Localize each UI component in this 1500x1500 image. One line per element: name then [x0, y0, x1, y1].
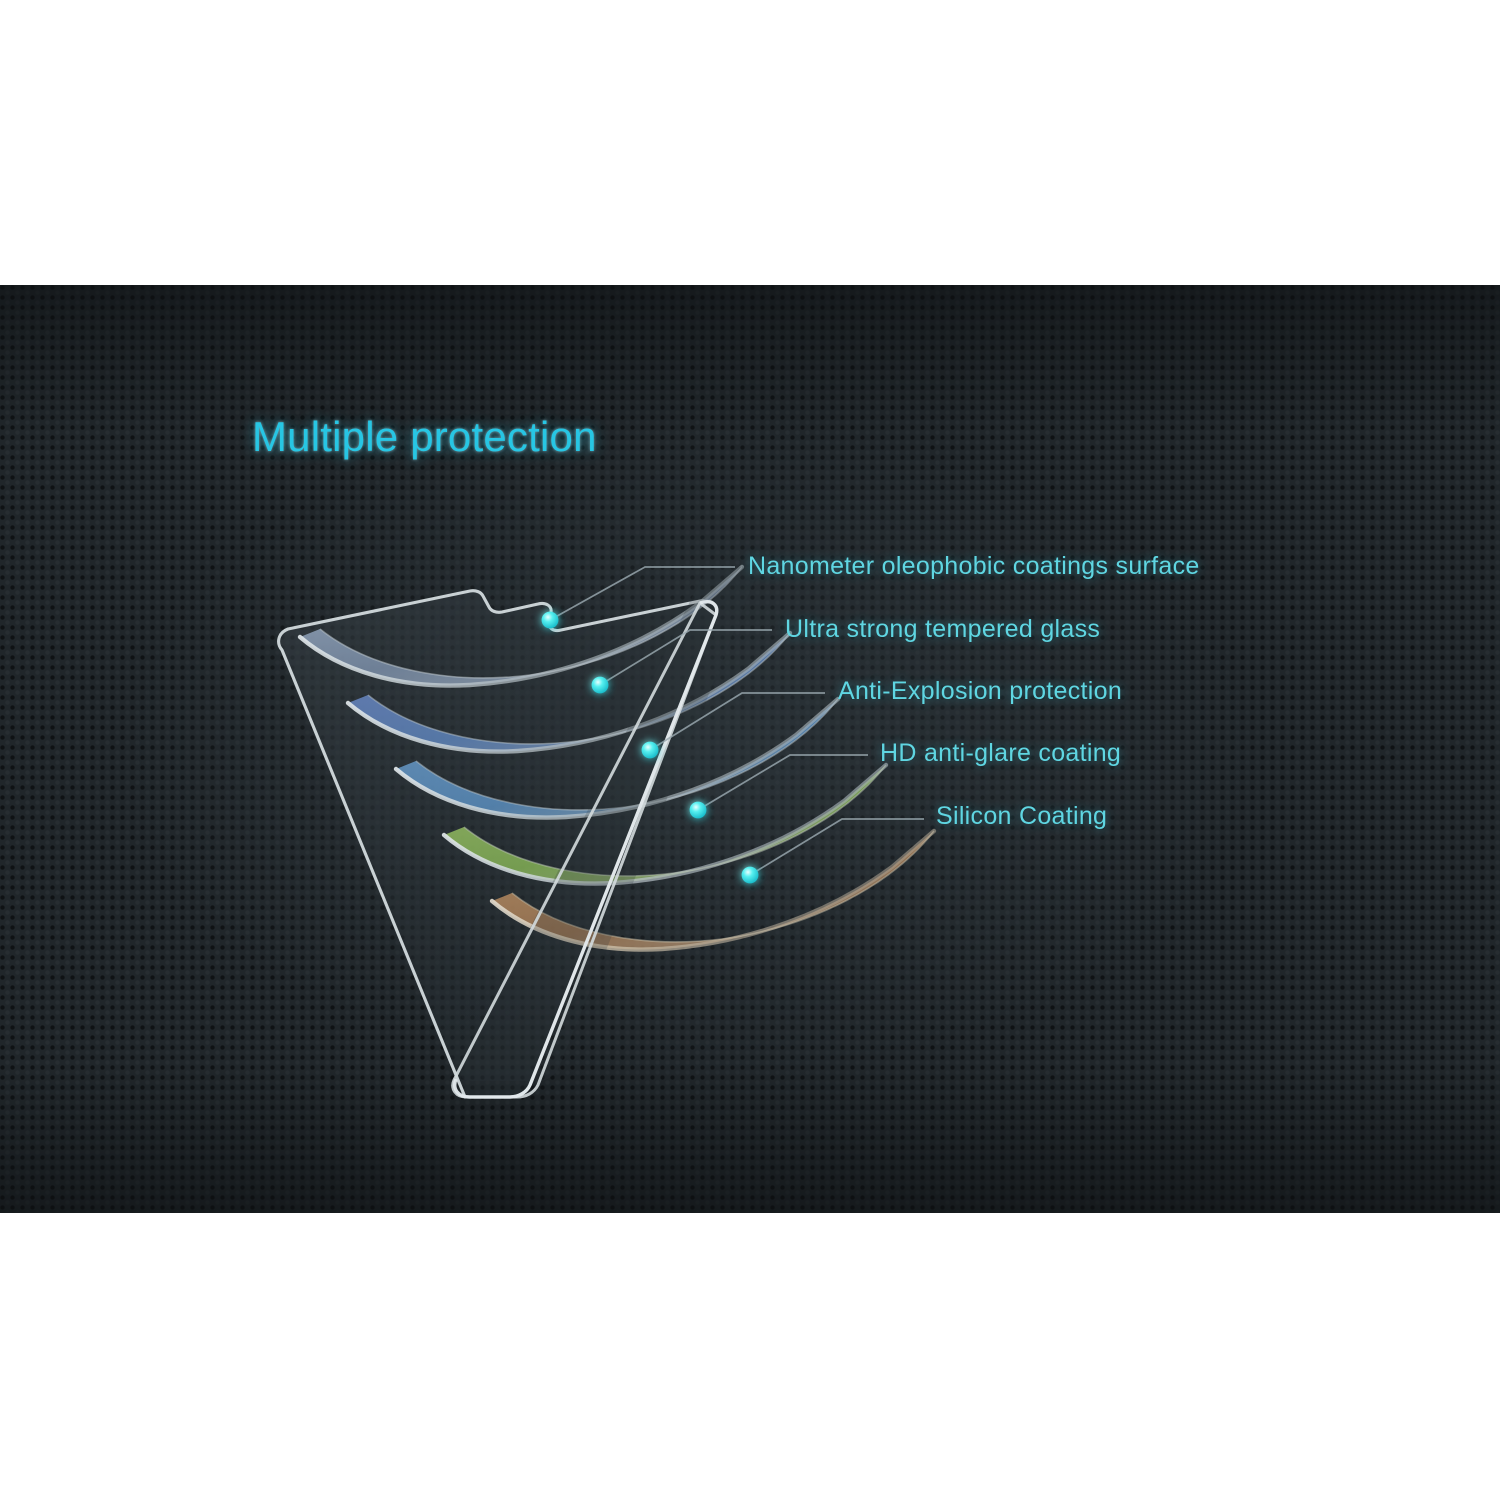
callout-label-nanometer-oleophobic-coatings-surface: Nanometer oleophobic coatings surface	[748, 552, 1200, 581]
marker-dot-2	[592, 677, 609, 694]
marker-dot-4	[690, 802, 707, 819]
exploded-layer-illustration	[0, 285, 1500, 1213]
marker-dot-3	[642, 742, 659, 759]
callout-label-anti-explosion-protection: Anti-Explosion protection	[838, 677, 1122, 706]
callout-label-hd-anti-glare-coating: HD anti-glare coating	[880, 739, 1121, 768]
marker-dot-5	[742, 867, 759, 884]
marker-dot-1	[542, 612, 559, 629]
callout-label-silicon-coating: Silicon Coating	[936, 802, 1107, 831]
product-infographic: Multiple protection	[0, 0, 1500, 1500]
callout-label-ultra-strong-tempered-glass: Ultra strong tempered glass	[785, 615, 1100, 644]
